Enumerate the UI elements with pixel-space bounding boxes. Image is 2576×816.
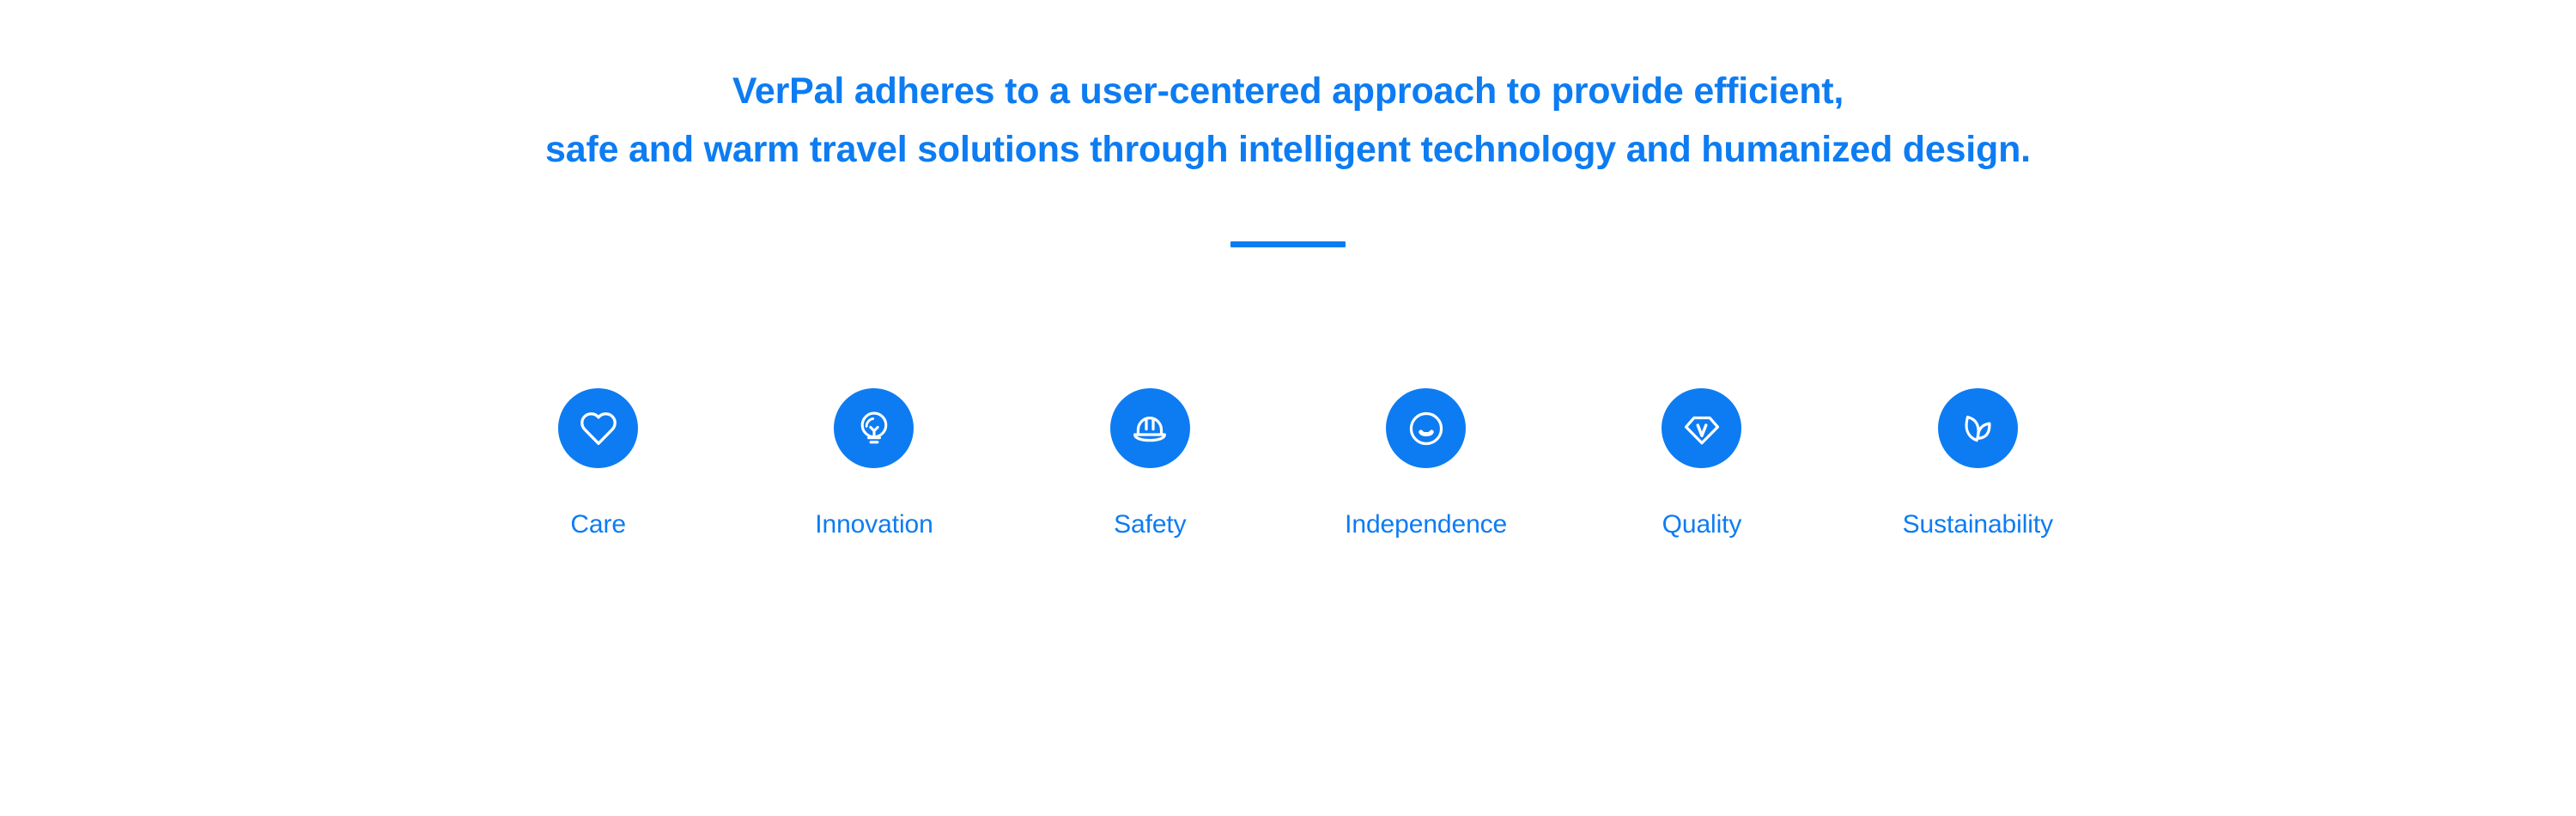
diamond-v-icon xyxy=(1680,406,1724,451)
value-item-care[interactable]: Care xyxy=(460,388,736,540)
leaves-icon xyxy=(1955,406,2000,451)
values-section: VerPal adheres to a user-centered approa… xyxy=(0,0,2576,816)
icon-badge-care xyxy=(558,388,638,468)
hard-hat-icon xyxy=(1127,406,1172,451)
section-divider xyxy=(1230,241,1346,247)
page-title: VerPal adheres to a user-centered approa… xyxy=(0,62,2576,179)
value-item-innovation[interactable]: Innovation xyxy=(736,388,1012,540)
divider-container xyxy=(0,241,2576,247)
lightbulb-icon xyxy=(853,407,896,450)
icon-badge-independence xyxy=(1386,388,1466,468)
value-label-safety: Safety xyxy=(1114,509,1186,540)
smiley-face-icon xyxy=(1404,406,1449,451)
icon-badge-sustainability xyxy=(1938,388,2018,468)
value-label-sustainability: Sustainability xyxy=(1903,509,2053,540)
heart-icon xyxy=(576,406,621,451)
value-label-independence: Independence xyxy=(1345,509,1507,540)
value-item-quality[interactable]: Quality xyxy=(1564,388,1839,540)
icon-badge-quality xyxy=(1662,388,1741,468)
icon-badge-safety xyxy=(1110,388,1190,468)
value-label-quality: Quality xyxy=(1662,509,1742,540)
values-list: Care Innovation xyxy=(460,388,2116,540)
value-label-care: Care xyxy=(570,509,626,540)
value-label-innovation: Innovation xyxy=(815,509,933,540)
value-item-independence[interactable]: Independence xyxy=(1288,388,1564,540)
value-item-sustainability[interactable]: Sustainability xyxy=(1840,388,2116,540)
icon-badge-innovation xyxy=(834,388,914,468)
value-item-safety[interactable]: Safety xyxy=(1012,388,1288,540)
page-title-line-2: safe and warm travel solutions through i… xyxy=(0,120,2576,179)
page-title-line-1: VerPal adheres to a user-centered approa… xyxy=(0,62,2576,120)
